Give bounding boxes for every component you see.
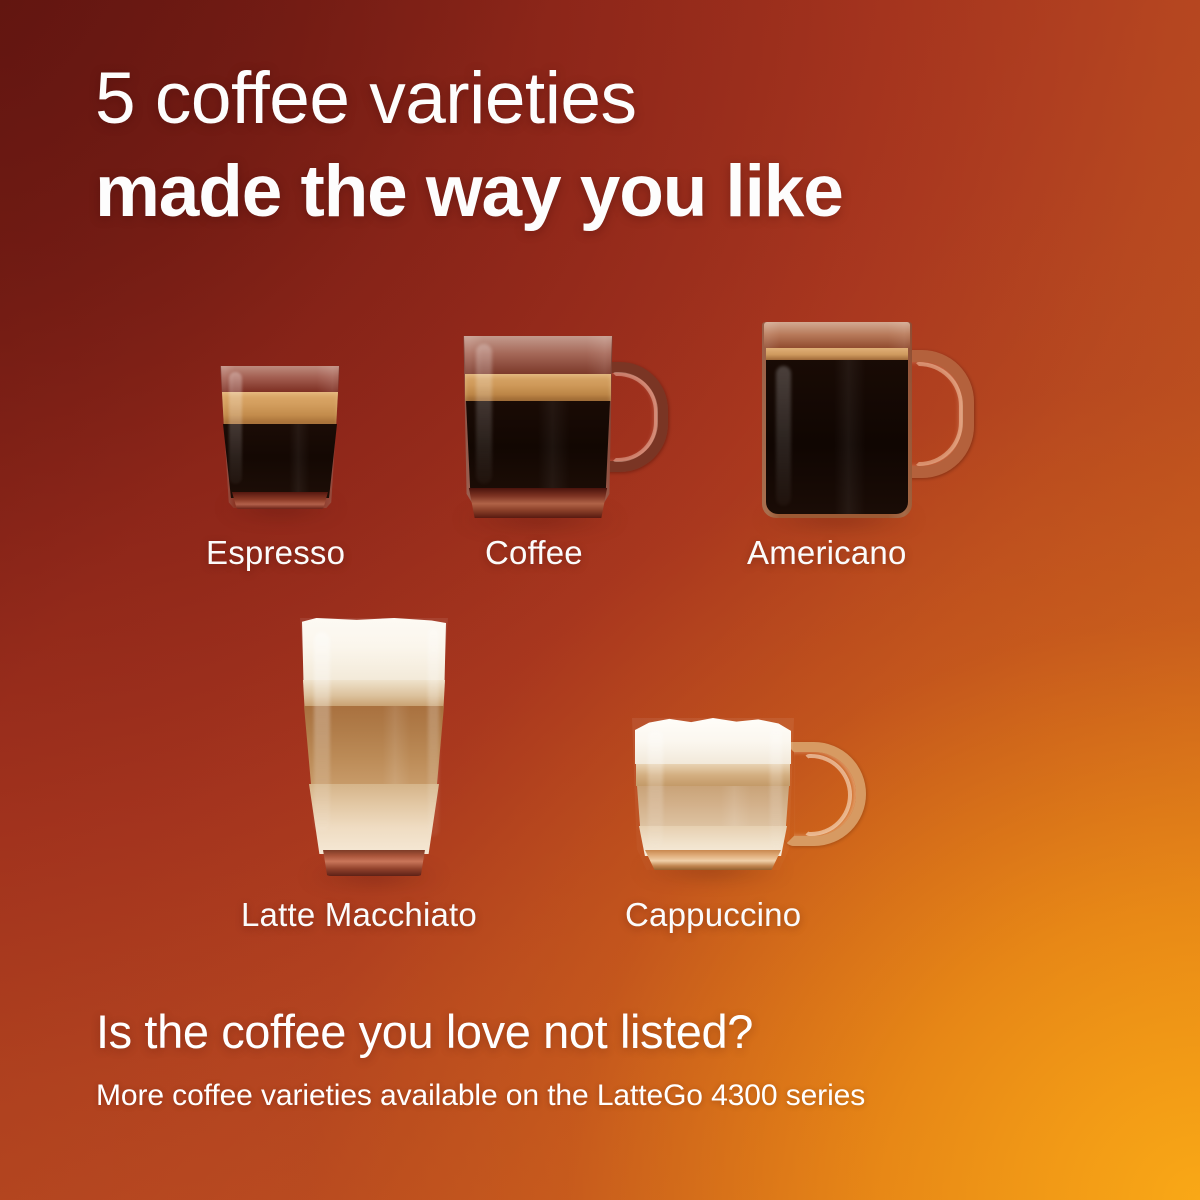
espresso-glass	[219, 366, 341, 508]
headline-line-2: made the way you like	[95, 155, 1135, 228]
cappuccino-crema-band	[636, 764, 790, 786]
latte-glass-base	[322, 850, 426, 876]
americano-liquid	[766, 360, 908, 514]
americano-crema-layer	[766, 348, 908, 360]
latte-coffee-layer	[304, 706, 444, 784]
americano-mug-rim	[764, 322, 910, 348]
headline-line-1: 5 coffee varieties	[95, 62, 1135, 135]
coffee-mug	[462, 336, 674, 518]
drink-label-latte-macchiato: Latte Macchiato	[241, 896, 477, 934]
drink-label-coffee: Coffee	[485, 534, 583, 572]
cappuccino-cup-base	[645, 850, 781, 870]
coffee-crema-layer	[465, 374, 611, 401]
headline: 5 coffee varieties made the way you like	[95, 62, 1135, 228]
footer-question: Is the coffee you love not listed?	[96, 1004, 1136, 1059]
cappuccino-coffee-layer	[637, 786, 789, 826]
latte-milk-layer	[309, 784, 439, 854]
latte-macchiato-glass	[300, 618, 448, 876]
espresso-glass-base	[232, 492, 328, 509]
drink-label-cappuccino: Cappuccino	[625, 896, 801, 934]
americano-mug	[762, 322, 978, 518]
cappuccino-cup	[632, 718, 868, 870]
latte-transition-layer	[303, 680, 445, 706]
promo-banner: 5 coffee varieties made the way you like…	[0, 0, 1200, 1200]
espresso-glass-rim	[221, 366, 339, 392]
cappuccino-foam-layer	[635, 718, 791, 764]
coffee-mug-rim	[464, 336, 612, 374]
espresso-liquid	[223, 424, 337, 498]
footer: Is the coffee you love not listed? More …	[96, 1004, 1136, 1113]
coffee-mug-base	[466, 488, 610, 518]
espresso-crema-layer	[222, 392, 338, 424]
coffee-liquid	[466, 401, 610, 493]
latte-foam-layer	[302, 618, 446, 680]
drink-label-espresso: Espresso	[206, 534, 345, 572]
footer-subtext: More coffee varieties available on the L…	[96, 1079, 1136, 1113]
drink-label-americano: Americano	[747, 534, 907, 572]
